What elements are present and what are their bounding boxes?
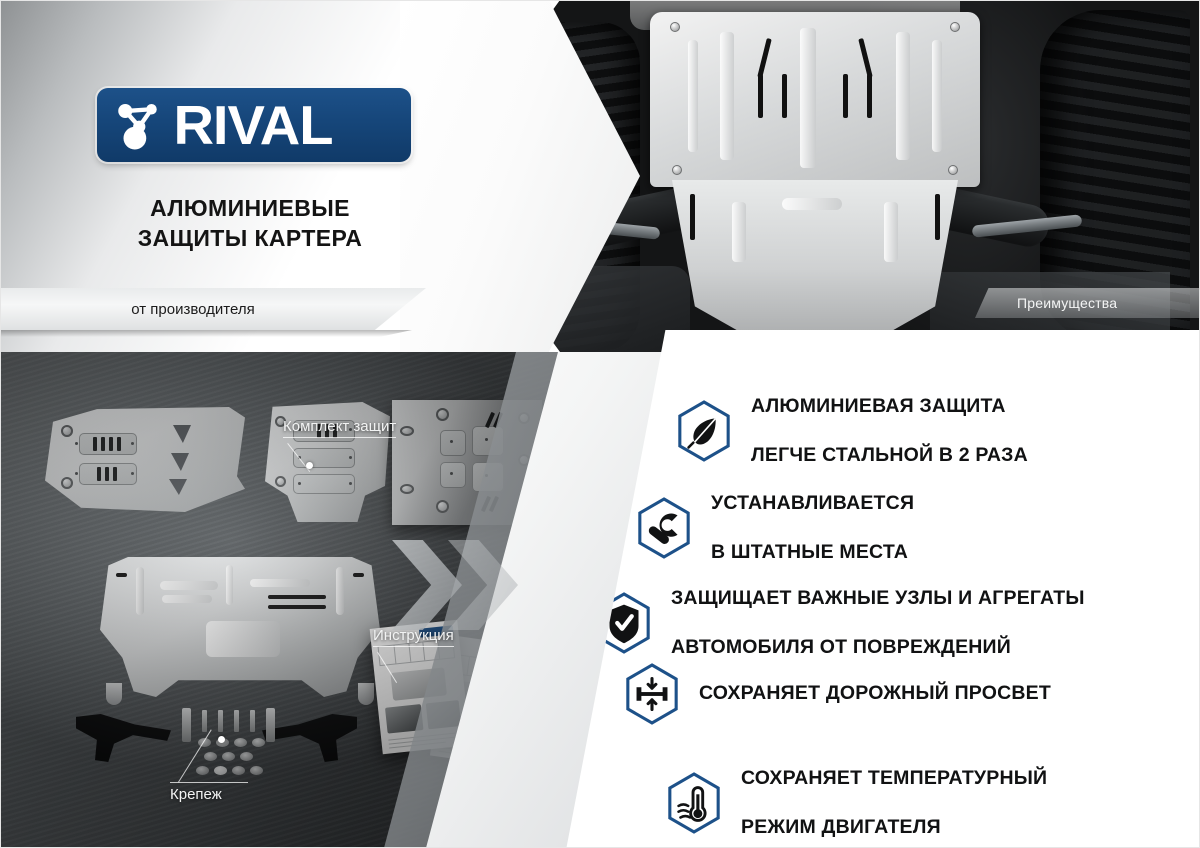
kit-label: Комплект защит: [283, 418, 396, 438]
skid-plate-upper-section: [650, 12, 980, 187]
subtitle-band-shadow: [0, 330, 412, 337]
subtitle-band: от производителя: [0, 288, 426, 330]
hardware-label: Крепеж: [170, 786, 222, 803]
feature-item-2-line2: АВТОМОБИЛЯ ОТ ПОВРЕЖДЕНИЙ: [671, 635, 1085, 659]
feature-item-0-line1: АЛЮМИНИЕВАЯ ЗАЩИТА: [751, 394, 1028, 418]
feature-item-3-text: СОХРАНЯЕТ ДОРОЖНЫЙ ПРОСВЕТ: [699, 657, 1051, 730]
thermometer-icon: [665, 771, 723, 835]
feature-item-4-line1: СОХРАНЯЕТ ТЕМПЕРАТУРНЫЙ: [741, 766, 1047, 790]
rival-logo[interactable]: RIVAL: [97, 88, 411, 162]
mounting-bracket-right: [262, 714, 357, 762]
molecule-icon: [113, 97, 169, 153]
page-title-line2: ЗАЩИТЫ КАРТЕРА: [0, 223, 500, 253]
hardware-label-underline: [170, 782, 248, 783]
feature-item-0-line2: ЛЕГЧЕ СТАЛЬНОЙ В 2 РАЗА: [751, 443, 1028, 467]
advantages-tab[interactable]: Преимущества: [975, 288, 1200, 318]
feature-item-4-line2: РЕЖИМ ДВИГАТЕЛЯ: [741, 815, 1047, 839]
skid-plate-part-1: [45, 407, 245, 512]
mounting-bracket-left: [76, 714, 171, 762]
rival-logo-wordmark: RIVAL: [173, 98, 332, 153]
ground-clearance-icon: [623, 662, 681, 726]
feature-item-3-line1: СОХРАНЯЕТ ДОРОЖНЫЙ ПРОСВЕТ: [699, 681, 1051, 705]
installed-skid-plate: [650, 12, 980, 342]
skid-plate-lower-section: [672, 180, 958, 342]
page-title-line1: АЛЮМИНИЕВЫЕ: [0, 193, 500, 223]
hardware-label-pointer: [218, 736, 225, 743]
promo-banner: Преимущества RIVAL АЛЮМИНИЕВЫЕ ЗАЩИТЫ КА…: [0, 0, 1200, 848]
page-title: АЛЮМИНИЕВЫЕ ЗАЩИТЫ КАРТЕРА: [0, 193, 500, 254]
kit-label-pointer: [306, 462, 313, 469]
feature-item-2-line1: ЗАЩИЩАЕТ ВАЖНЫЕ УЗЛЫ И АГРЕГАТЫ: [671, 586, 1085, 610]
feature-item-4-text: СОХРАНЯЕТ ТЕМПЕРАТУРНЫЙ РЕЖИМ ДВИГАТЕЛЯ: [741, 742, 1047, 848]
feature-item-1-line1: УСТАНАВЛИВАЕТСЯ: [711, 491, 914, 515]
skid-plate-main: [100, 557, 380, 697]
feature-item-4[interactable]: СОХРАНЯЕТ ТЕМПЕРАТУРНЫЙ РЕЖИМ ДВИГАТЕЛЯ: [665, 742, 1047, 848]
leaf-icon: [675, 399, 733, 463]
instruction-label: Инструкция: [373, 627, 454, 647]
wrench-icon: [635, 496, 693, 560]
subtitle-text: от производителя: [131, 301, 294, 318]
feature-item-1-line2: В ШТАТНЫЕ МЕСТА: [711, 540, 914, 564]
feature-item-3[interactable]: СОХРАНЯЕТ ДОРОЖНЫЙ ПРОСВЕТ: [623, 657, 1051, 730]
advantages-tab-label: Преимущества: [1017, 295, 1117, 311]
